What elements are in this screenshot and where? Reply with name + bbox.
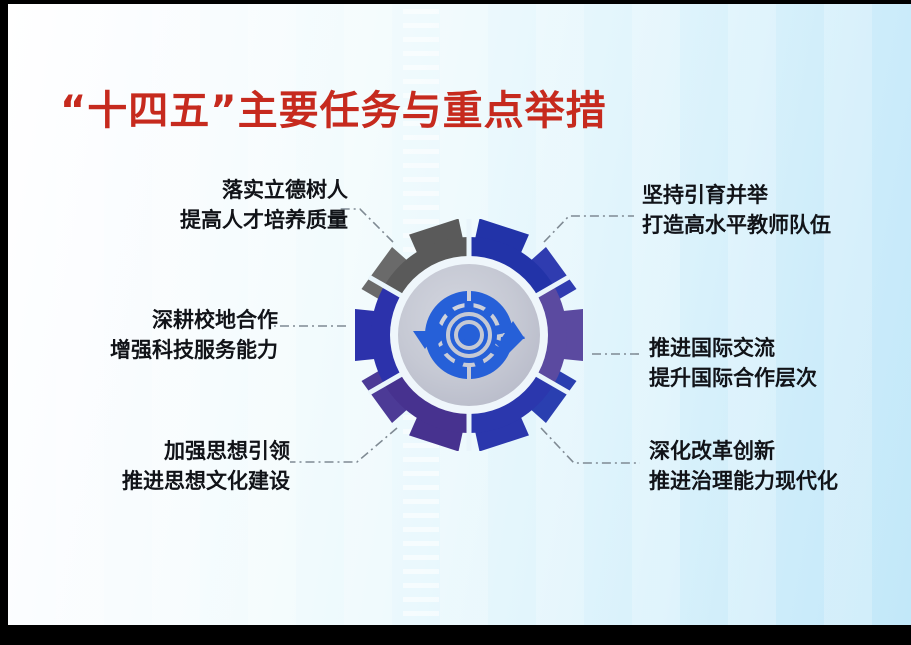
item-local-cooperation-line2: 增强科技服务能力 <box>28 335 278 365</box>
item-ideological-guidance-line2: 推进思想文化建设 <box>28 466 290 496</box>
item-reform-innovation: 深化改革创新 推进治理能力现代化 <box>649 436 911 496</box>
item-faculty-team-line1: 坚持引育并举 <box>642 180 911 210</box>
item-international-exchange-line1: 推进国际交流 <box>649 333 911 363</box>
item-moral-education: 落实立德树人 提高人才培养质量 <box>28 175 348 235</box>
slide-canvas: “十四五”主要任务与重点举措 <box>8 4 911 625</box>
item-ideological-guidance-line1: 加强思想引领 <box>28 436 290 466</box>
item-faculty-team: 坚持引育并举 打造高水平教师队伍 <box>642 180 911 240</box>
item-local-cooperation-line1: 深耕校地合作 <box>28 305 278 335</box>
item-faculty-team-line2: 打造高水平教师队伍 <box>642 210 911 240</box>
gear-graphic <box>333 219 605 451</box>
page-title: “十四五”主要任务与重点举措 <box>60 78 607 136</box>
item-moral-education-line1: 落实立德树人 <box>28 175 348 205</box>
item-moral-education-line2: 提高人才培养质量 <box>28 205 348 235</box>
item-local-cooperation: 深耕校地合作 增强科技服务能力 <box>28 305 278 365</box>
item-reform-innovation-line1: 深化改革创新 <box>649 436 911 466</box>
item-international-exchange-line2: 提升国际合作层次 <box>649 363 911 393</box>
item-international-exchange: 推进国际交流 提升国际合作层次 <box>649 333 911 393</box>
item-reform-innovation-line2: 推进治理能力现代化 <box>649 466 911 496</box>
item-ideological-guidance: 加强思想引领 推进思想文化建设 <box>28 436 290 496</box>
